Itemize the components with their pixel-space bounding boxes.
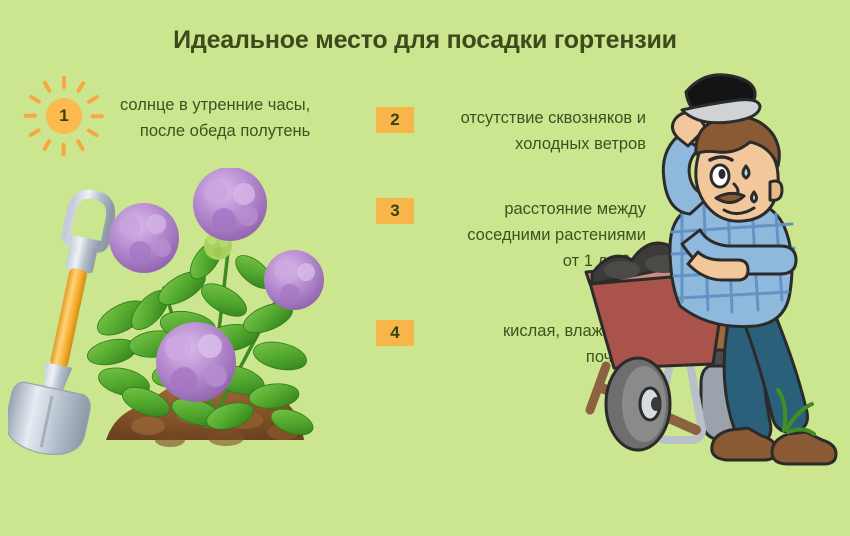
sun-ray xyxy=(76,80,86,93)
hydrangea-bush-illustration xyxy=(78,168,338,460)
infographic-canvas: Идеальное место для посадки гортензии 1 … xyxy=(0,0,850,536)
sun-ray xyxy=(62,143,66,156)
flower-cluster xyxy=(156,322,236,402)
tip-number-1: 1 xyxy=(46,98,82,134)
sun-ray xyxy=(28,94,41,104)
flat-cap xyxy=(682,75,760,123)
sun-ray xyxy=(42,138,52,151)
sun-ray xyxy=(24,114,37,118)
sun-icon: 1 xyxy=(24,76,104,156)
flower-cluster xyxy=(264,250,324,310)
mustache xyxy=(716,193,744,202)
gardener-head xyxy=(696,117,782,221)
boot-back xyxy=(772,432,836,464)
sweat-drop xyxy=(752,192,757,202)
tip-number-4: 4 xyxy=(376,320,414,346)
sun-ray xyxy=(91,114,104,118)
sun-ray xyxy=(86,94,99,104)
tip-number-2: 2 xyxy=(376,107,414,133)
sun-ray xyxy=(86,128,99,138)
flower-cluster xyxy=(109,203,179,273)
tip-number-3: 3 xyxy=(376,198,414,224)
ear xyxy=(770,181,782,200)
tip-item-1: 1 солнце в утренние часы, после обеда по… xyxy=(24,92,310,156)
flower-cluster xyxy=(193,168,267,241)
sun-ray xyxy=(62,76,66,89)
tip-text-1: солнце в утренние часы, после обеда полу… xyxy=(120,92,310,144)
sun-ray xyxy=(42,80,52,93)
sun-ray xyxy=(28,128,41,138)
gardener-illustration xyxy=(578,58,850,490)
gardener-legs xyxy=(712,312,836,464)
sun-ray xyxy=(76,138,86,151)
page-title: Идеальное место для посадки гортензии xyxy=(0,26,850,55)
sweat-drop xyxy=(743,166,749,178)
